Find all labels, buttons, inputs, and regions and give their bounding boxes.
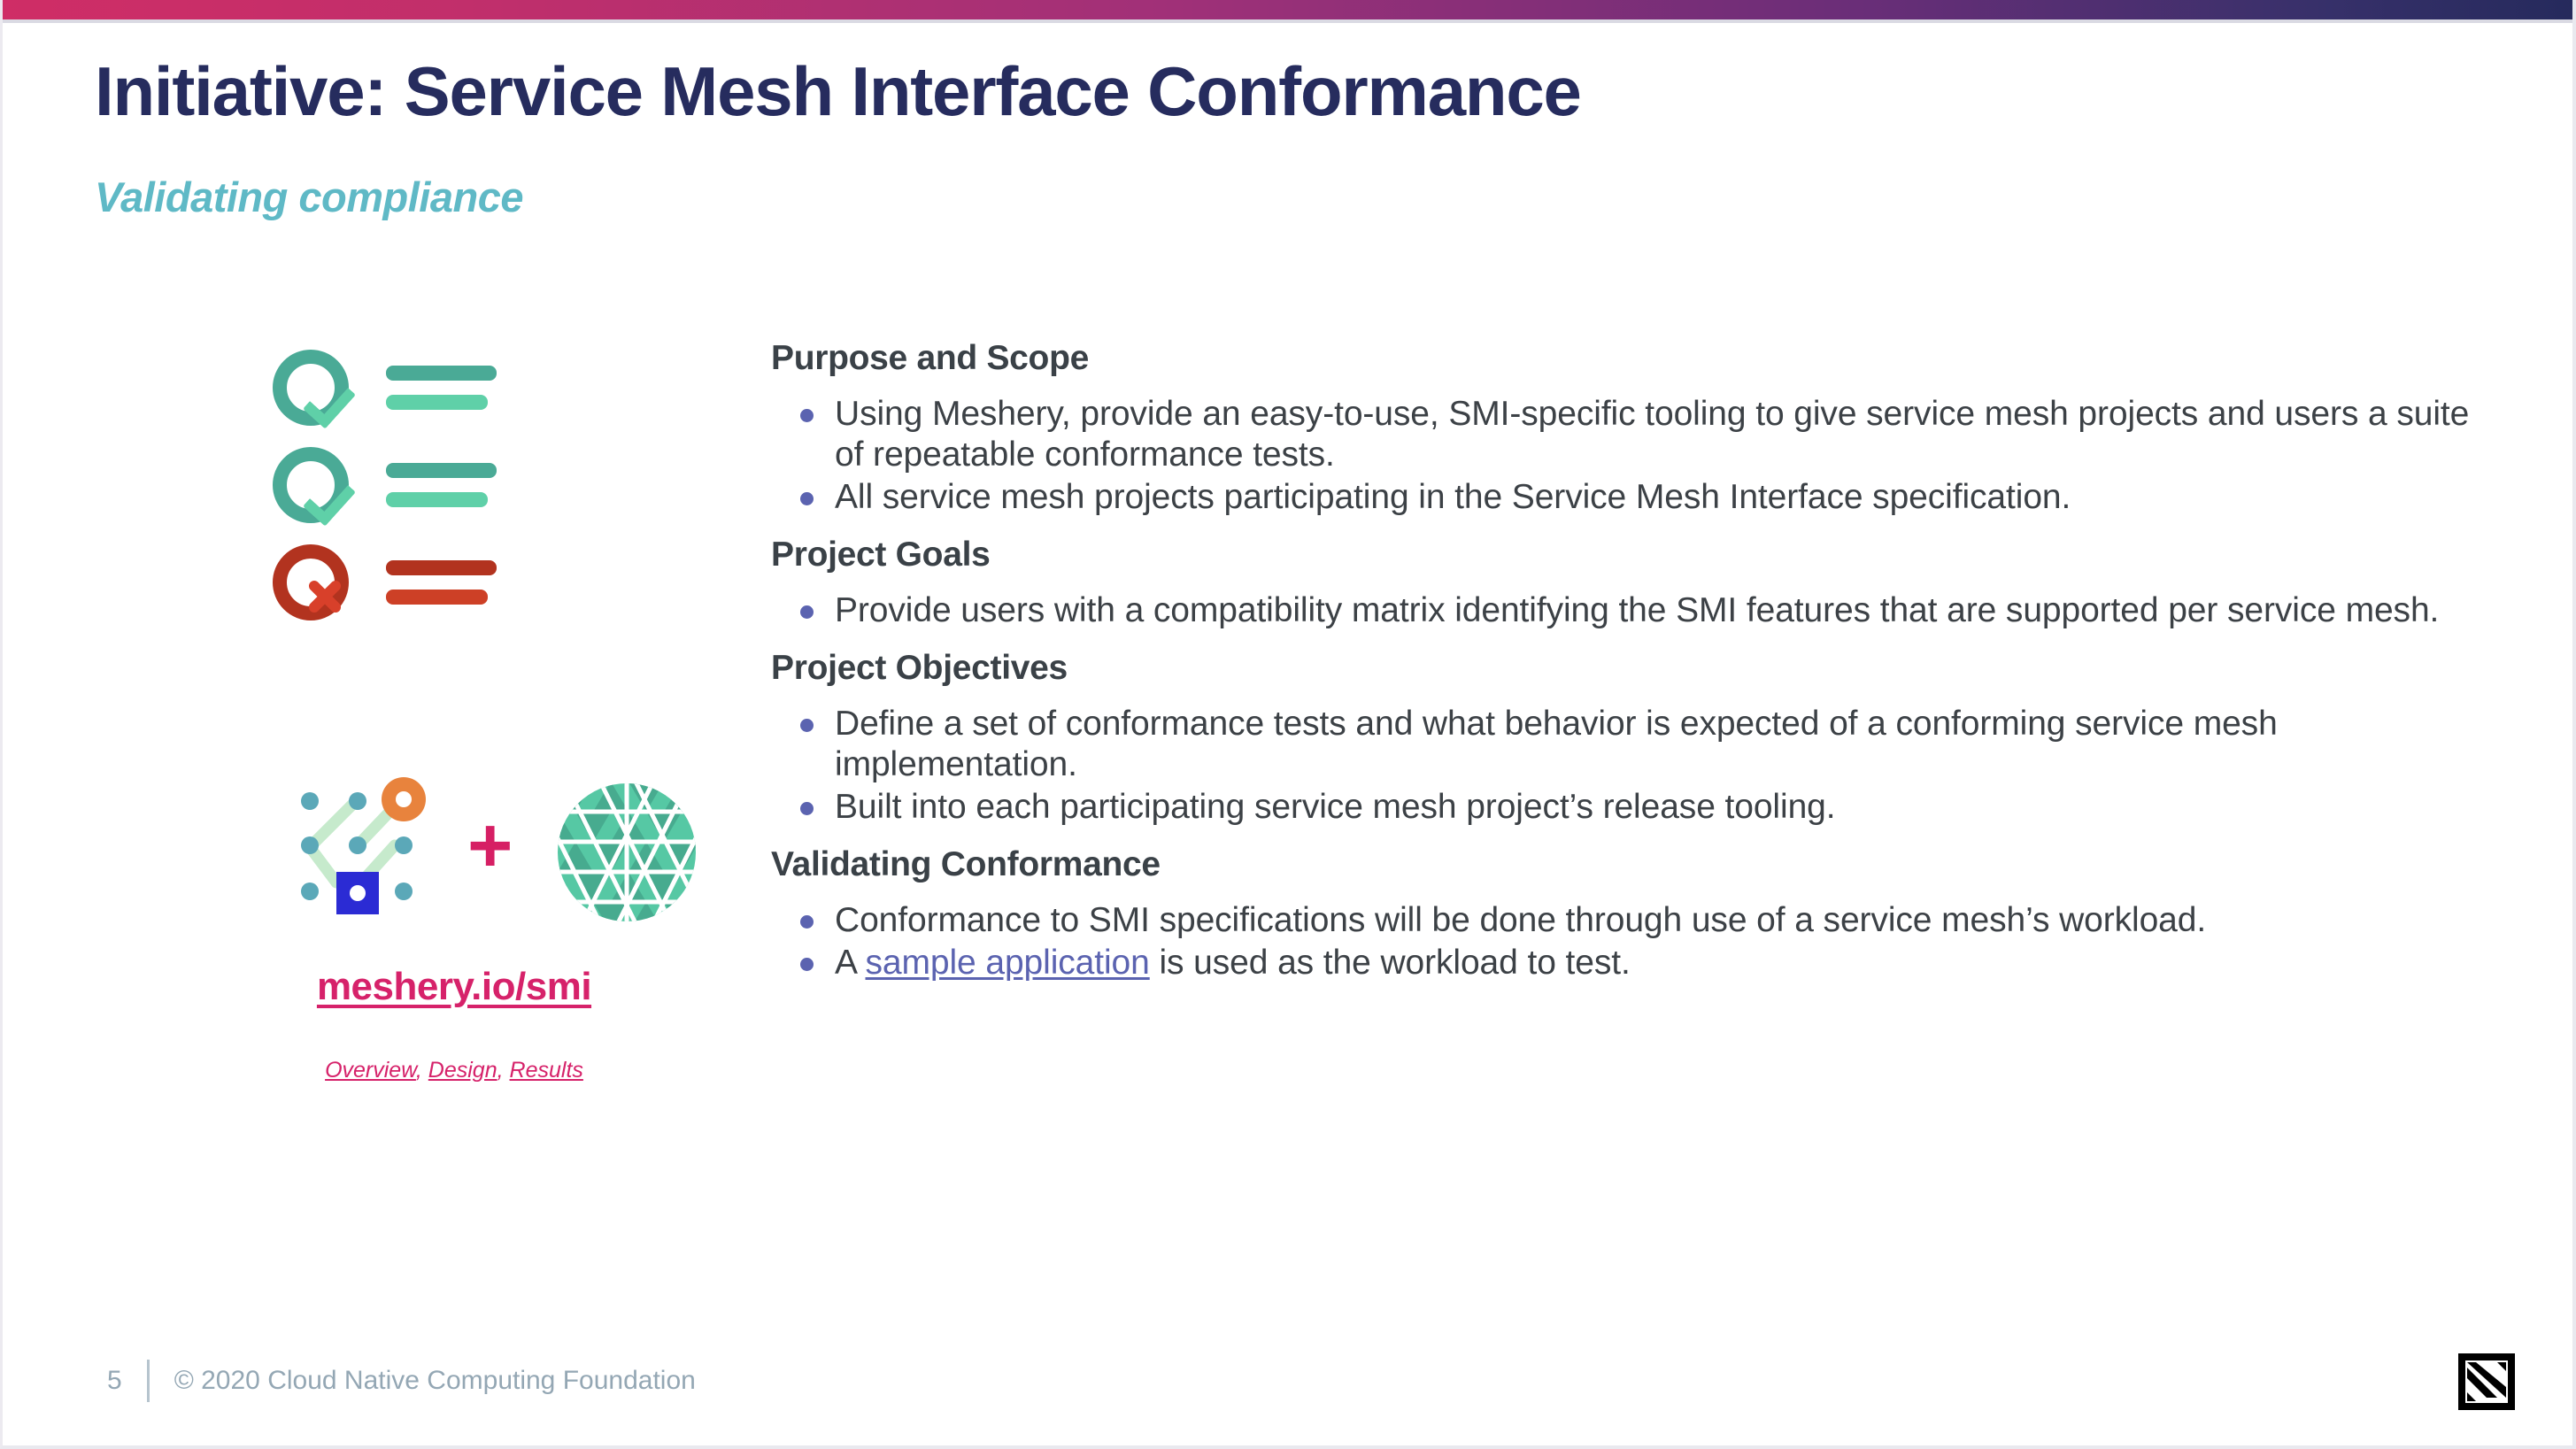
top-accent-bar bbox=[3, 0, 2576, 19]
slide-footer: 5 © 2020 Cloud Native Computing Foundati… bbox=[107, 1360, 696, 1402]
bullet-dot-icon bbox=[800, 719, 814, 732]
meshery-node-dot bbox=[349, 792, 366, 810]
section-heading: Project Goals bbox=[771, 536, 2506, 574]
bullet-list: Using Meshery, provide an easy-to-use, S… bbox=[771, 394, 2506, 518]
checklist-lines bbox=[386, 560, 497, 605]
sub-link-separator-2: , bbox=[497, 1058, 510, 1083]
bullet-item-with-link: A sample application is used as the work… bbox=[771, 943, 2506, 983]
bullet-dot-icon bbox=[800, 605, 814, 619]
section-purpose-and-scope: Purpose and Scope Using Meshery, provide… bbox=[771, 339, 2506, 518]
meshery-node-dot bbox=[395, 836, 413, 854]
check-circle-icon bbox=[273, 447, 349, 523]
page-subtitle: Validating compliance bbox=[95, 173, 523, 221]
meshery-node-dot bbox=[301, 836, 319, 854]
section-heading: Project Objectives bbox=[771, 649, 2506, 688]
bullet-item: Provide users with a compatibility matri… bbox=[771, 590, 2506, 631]
section-validating-conformance: Validating Conformance Conformance to SM… bbox=[771, 845, 2506, 983]
cncf-logo bbox=[2456, 1352, 2517, 1412]
sub-link-overview[interactable]: Overview bbox=[325, 1058, 416, 1083]
sub-link-separator-1: , bbox=[416, 1058, 428, 1083]
sample-application-link[interactable]: sample application bbox=[866, 944, 1150, 982]
bullet-dot-icon bbox=[800, 958, 814, 971]
slide-canvas: Initiative: Service Mesh Interface Confo… bbox=[0, 0, 2576, 1449]
bullet-text-suffix: is used as the workload to test. bbox=[1150, 944, 1631, 982]
bullet-item: Using Meshery, provide an easy-to-use, S… bbox=[771, 394, 2506, 475]
checklist-lines bbox=[386, 366, 497, 410]
footer-divider bbox=[147, 1360, 150, 1402]
conformance-checklist-icon bbox=[273, 350, 538, 642]
checklist-row-pass-2 bbox=[273, 447, 538, 544]
content-column: Purpose and Scope Using Meshery, provide… bbox=[771, 339, 2506, 989]
checklist-lines bbox=[386, 463, 497, 507]
checklist-row-pass-1 bbox=[273, 350, 538, 447]
meshery-node-dot bbox=[301, 883, 319, 900]
section-project-goals: Project Goals Provide users with a compa… bbox=[771, 536, 2506, 631]
bullet-text: Using Meshery, provide an easy-to-use, S… bbox=[835, 395, 2469, 474]
bullet-item: Define a set of conformance tests and wh… bbox=[771, 704, 2506, 785]
top-accent-bar-shadow bbox=[3, 19, 2576, 23]
checklist-row-fail bbox=[273, 544, 538, 642]
bullet-dot-icon bbox=[800, 409, 814, 422]
bullet-dot-icon bbox=[800, 802, 814, 815]
meshery-smi-link[interactable]: meshery.io/smi bbox=[135, 965, 773, 1009]
section-project-objectives: Project Objectives Define a set of confo… bbox=[771, 649, 2506, 828]
x-glyph bbox=[307, 579, 343, 614]
section-heading: Validating Conformance bbox=[771, 845, 2506, 884]
meshery-node-dot bbox=[301, 792, 319, 810]
bullet-list: Define a set of conformance tests and wh… bbox=[771, 704, 2506, 828]
bullet-list: Conformance to SMI specifications will b… bbox=[771, 900, 2506, 983]
meshery-node-dot bbox=[349, 836, 366, 854]
bullet-dot-icon bbox=[800, 915, 814, 929]
sub-link-results[interactable]: Results bbox=[510, 1058, 583, 1083]
meshery-node-dot bbox=[395, 883, 413, 900]
bullet-item: Built into each participating service me… bbox=[771, 787, 2506, 828]
bullet-dot-icon bbox=[800, 492, 814, 505]
sub-link-design[interactable]: Design bbox=[428, 1058, 497, 1083]
bullet-text: All service mesh projects participating … bbox=[835, 478, 2071, 516]
bullet-item: Conformance to SMI specifications will b… bbox=[771, 900, 2506, 941]
bullet-text: Define a set of conformance tests and wh… bbox=[835, 705, 2278, 783]
bullet-text: Built into each participating service me… bbox=[835, 788, 1835, 826]
page-number: 5 bbox=[107, 1366, 122, 1396]
bullet-list: Provide users with a compatibility matri… bbox=[771, 590, 2506, 631]
sub-links: Overview, Design, Results bbox=[135, 1058, 773, 1083]
section-heading: Purpose and Scope bbox=[771, 339, 2506, 378]
meshery-logo bbox=[290, 766, 450, 925]
smi-logo bbox=[556, 782, 698, 923]
bullet-text-prefix: A bbox=[835, 944, 866, 982]
bullet-item: All service mesh projects participating … bbox=[771, 477, 2506, 518]
logo-combination: + bbox=[290, 766, 662, 934]
bullet-text: Conformance to SMI specifications will b… bbox=[835, 901, 2206, 939]
checkmark-glyph bbox=[303, 472, 356, 526]
copyright-text: © 2020 Cloud Native Computing Foundation bbox=[174, 1366, 696, 1396]
plus-icon: + bbox=[467, 819, 513, 872]
check-circle-icon bbox=[273, 350, 349, 426]
page-title: Initiative: Service Mesh Interface Confo… bbox=[95, 51, 1581, 132]
checkmark-glyph bbox=[303, 374, 356, 428]
x-circle-icon bbox=[273, 544, 349, 620]
bullet-text: Provide users with a compatibility matri… bbox=[835, 591, 2439, 629]
